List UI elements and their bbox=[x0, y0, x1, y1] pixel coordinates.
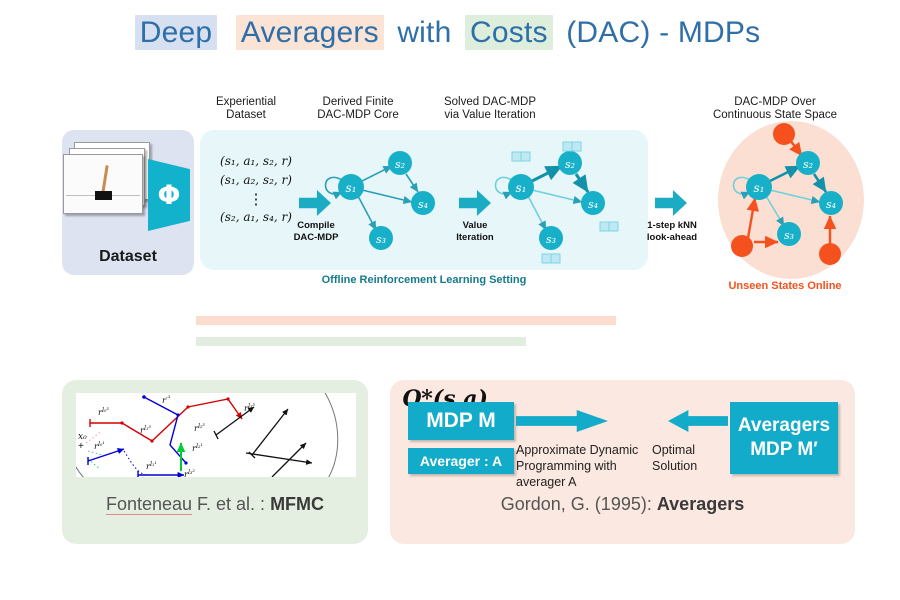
divider-bar-green bbox=[196, 337, 526, 346]
graph-node-s4: s₄ bbox=[411, 191, 435, 215]
svg-text:rl₀¹: rl₀¹ bbox=[94, 441, 105, 452]
value-badge-s1 bbox=[512, 152, 530, 161]
svg-text:s₄: s₄ bbox=[588, 198, 598, 211]
header-continuous-line1: DAC-MDP Over bbox=[690, 96, 860, 109]
phi-glyph: Φ bbox=[148, 159, 190, 231]
experiential-tuple-list: (s₁, a₁, s₂, r) (s₁, a₂, s₂, r) ⋮ (s₂, a… bbox=[206, 152, 306, 227]
mfmc-panel: x₀ + rl₀³ rl₁³ rl₂³ bbox=[62, 380, 368, 544]
adp-arrow-label: Approximate Dynamic Programming with ave… bbox=[516, 442, 641, 490]
tuple-item: (s₁, a₁, s₂, r) bbox=[206, 152, 306, 171]
svg-text:rl₃³: rl₃³ bbox=[244, 403, 255, 414]
mfmc-caption-author: Fonteneau bbox=[106, 494, 192, 515]
adp-label-line1: Approximate Dynamic bbox=[516, 442, 641, 458]
value-badge-s3 bbox=[542, 254, 560, 263]
svg-text:s₂: s₂ bbox=[395, 158, 405, 171]
mfmc-figure: x₀ + rl₀³ rl₁³ rl₂³ bbox=[76, 393, 356, 477]
opt-label-line2: Solution bbox=[652, 458, 722, 474]
title-word-deep: Deep bbox=[135, 15, 218, 50]
continuous-state-space-graph: s₁ s₂ s₃ s₄ bbox=[706, 118, 876, 283]
svg-text:s₃: s₃ bbox=[546, 233, 556, 246]
svg-text:s₁: s₁ bbox=[516, 181, 527, 195]
page-title: Deep Averagers with Costs (DAC) - MDPs bbox=[0, 16, 900, 50]
header-derived-core: Derived Finite DAC-MDP Core bbox=[298, 96, 418, 122]
title-word-with: with bbox=[384, 15, 465, 50]
unseen-node-1 bbox=[773, 123, 795, 145]
mdp-m-box: MDP M bbox=[408, 402, 514, 440]
averagers-caption-plain: Gordon, G. (1995): bbox=[501, 494, 657, 514]
value-badge-s2 bbox=[563, 142, 581, 151]
averagers-caption: Gordon, G. (1995): Averagers bbox=[390, 494, 855, 515]
unseen-node-3 bbox=[819, 243, 841, 265]
svg-text:rl₂³: rl₂³ bbox=[194, 423, 205, 434]
svg-text:s₄: s₄ bbox=[418, 198, 428, 211]
svg-text:rl₃²: rl₃² bbox=[184, 469, 195, 477]
optimal-solution-arrow-icon bbox=[668, 410, 728, 432]
offline-rl-caption: Offline Reinforcement Learning Setting bbox=[200, 274, 648, 286]
svg-text:s₁: s₁ bbox=[346, 181, 357, 195]
tuple-item: (s₁, a₂, s₂, r) bbox=[206, 171, 306, 190]
avgmdp-line1: Averagers bbox=[738, 414, 830, 438]
value-badge-s4 bbox=[600, 222, 618, 231]
optimal-solution-label: Optimal Solution bbox=[652, 442, 722, 474]
svg-text:r·³: r·³ bbox=[162, 395, 171, 406]
title-tail: (DAC) - MDPs bbox=[553, 15, 766, 50]
header-experiential-dataset: Experiential Dataset bbox=[196, 96, 296, 122]
averager-a-box: Averager : A bbox=[408, 448, 514, 474]
graph-node-s2: s₂ bbox=[796, 151, 820, 175]
mfmc-caption-mid: F. et al. : bbox=[192, 494, 270, 514]
header-experiential-line2: Dataset bbox=[196, 109, 296, 122]
svg-text:s₄: s₄ bbox=[826, 198, 836, 211]
cartpole-cart bbox=[95, 191, 112, 200]
averagers-mdp-box: Averagers MDP M′ bbox=[730, 402, 838, 474]
graph-node-s1: s₁ bbox=[746, 174, 772, 200]
dataset-frame-1 bbox=[63, 154, 143, 214]
svg-text:+: + bbox=[78, 441, 84, 452]
dataset-label: Dataset bbox=[62, 248, 194, 266]
graph-node-s3: s₃ bbox=[369, 226, 393, 250]
title-word-averagers: Averagers bbox=[236, 15, 384, 50]
graph-node-s3: s₃ bbox=[539, 226, 563, 250]
header-solved-dacmdp: Solved DAC-MDP via Value Iteration bbox=[424, 96, 556, 122]
graph-node-s3: s₃ bbox=[777, 222, 801, 246]
svg-text:rl₀³: rl₀³ bbox=[98, 407, 109, 418]
unseen-node-2 bbox=[731, 235, 753, 257]
encoder-phi: Φ bbox=[148, 159, 190, 231]
divider-bar-pink bbox=[196, 316, 616, 325]
header-solved-line1: Solved DAC-MDP bbox=[424, 96, 556, 109]
mdp-solved-graph: s₁ s₂ s₃ s₄ bbox=[488, 140, 638, 266]
header-core-line1: Derived Finite bbox=[298, 96, 418, 109]
tuple-ellipsis: ⋮ bbox=[206, 190, 306, 208]
svg-text:s₃: s₃ bbox=[784, 229, 794, 242]
averagers-caption-bold: Averagers bbox=[657, 494, 744, 514]
avgmdp-line2: MDP M′ bbox=[750, 438, 818, 462]
title-space-1 bbox=[217, 15, 236, 50]
graph-node-s2: s₂ bbox=[558, 151, 582, 175]
knn-label-line1: 1-step kNN bbox=[636, 220, 708, 232]
knn-arrow-label: 1-step kNN look-ahead bbox=[636, 220, 708, 244]
graph-node-s1: s₁ bbox=[338, 174, 364, 200]
adp-label-line3: averager A bbox=[516, 474, 641, 490]
mfmc-caption-bold: MFMC bbox=[270, 494, 324, 514]
svg-text:s₂: s₂ bbox=[565, 158, 575, 171]
header-solved-line2: via Value Iteration bbox=[424, 109, 556, 122]
mdp-core-graph: s₁ s₂ s₃ s₄ bbox=[318, 140, 446, 258]
graph-node-s4: s₄ bbox=[581, 191, 605, 215]
header-experiential-line1: Experiential bbox=[196, 96, 296, 109]
averagers-panel: MDP M Averager : A Q*(s,a) Averagers MDP… bbox=[390, 380, 855, 544]
knn-arrow-icon bbox=[655, 190, 687, 216]
svg-text:s₃: s₃ bbox=[376, 233, 386, 246]
svg-text:rl₂¹: rl₂¹ bbox=[192, 443, 203, 454]
graph-node-s2: s₂ bbox=[388, 151, 412, 175]
adp-arrow-icon bbox=[516, 410, 608, 432]
graph-node-s1: s₁ bbox=[508, 174, 534, 200]
graph-node-s4: s₄ bbox=[819, 191, 843, 215]
svg-text:rl₁³: rl₁³ bbox=[140, 425, 151, 436]
title-word-costs: Costs bbox=[465, 15, 553, 50]
unseen-states-caption: Unseen States Online bbox=[700, 280, 870, 292]
svg-text:rl₁¹: rl₁¹ bbox=[146, 461, 157, 472]
svg-text:s₂: s₂ bbox=[803, 158, 813, 171]
header-core-line2: DAC-MDP Core bbox=[298, 109, 418, 122]
svg-text:s₁: s₁ bbox=[754, 181, 765, 195]
knn-label-line2: look-ahead bbox=[636, 232, 708, 244]
adp-label-line2: Programming with bbox=[516, 458, 641, 474]
mfmc-trajectory-plot: x₀ + rl₀³ rl₁³ rl₂³ bbox=[76, 393, 356, 477]
mfmc-caption: Fonteneau F. et al. : MFMC bbox=[62, 494, 368, 515]
opt-label-line1: Optimal bbox=[652, 442, 722, 458]
